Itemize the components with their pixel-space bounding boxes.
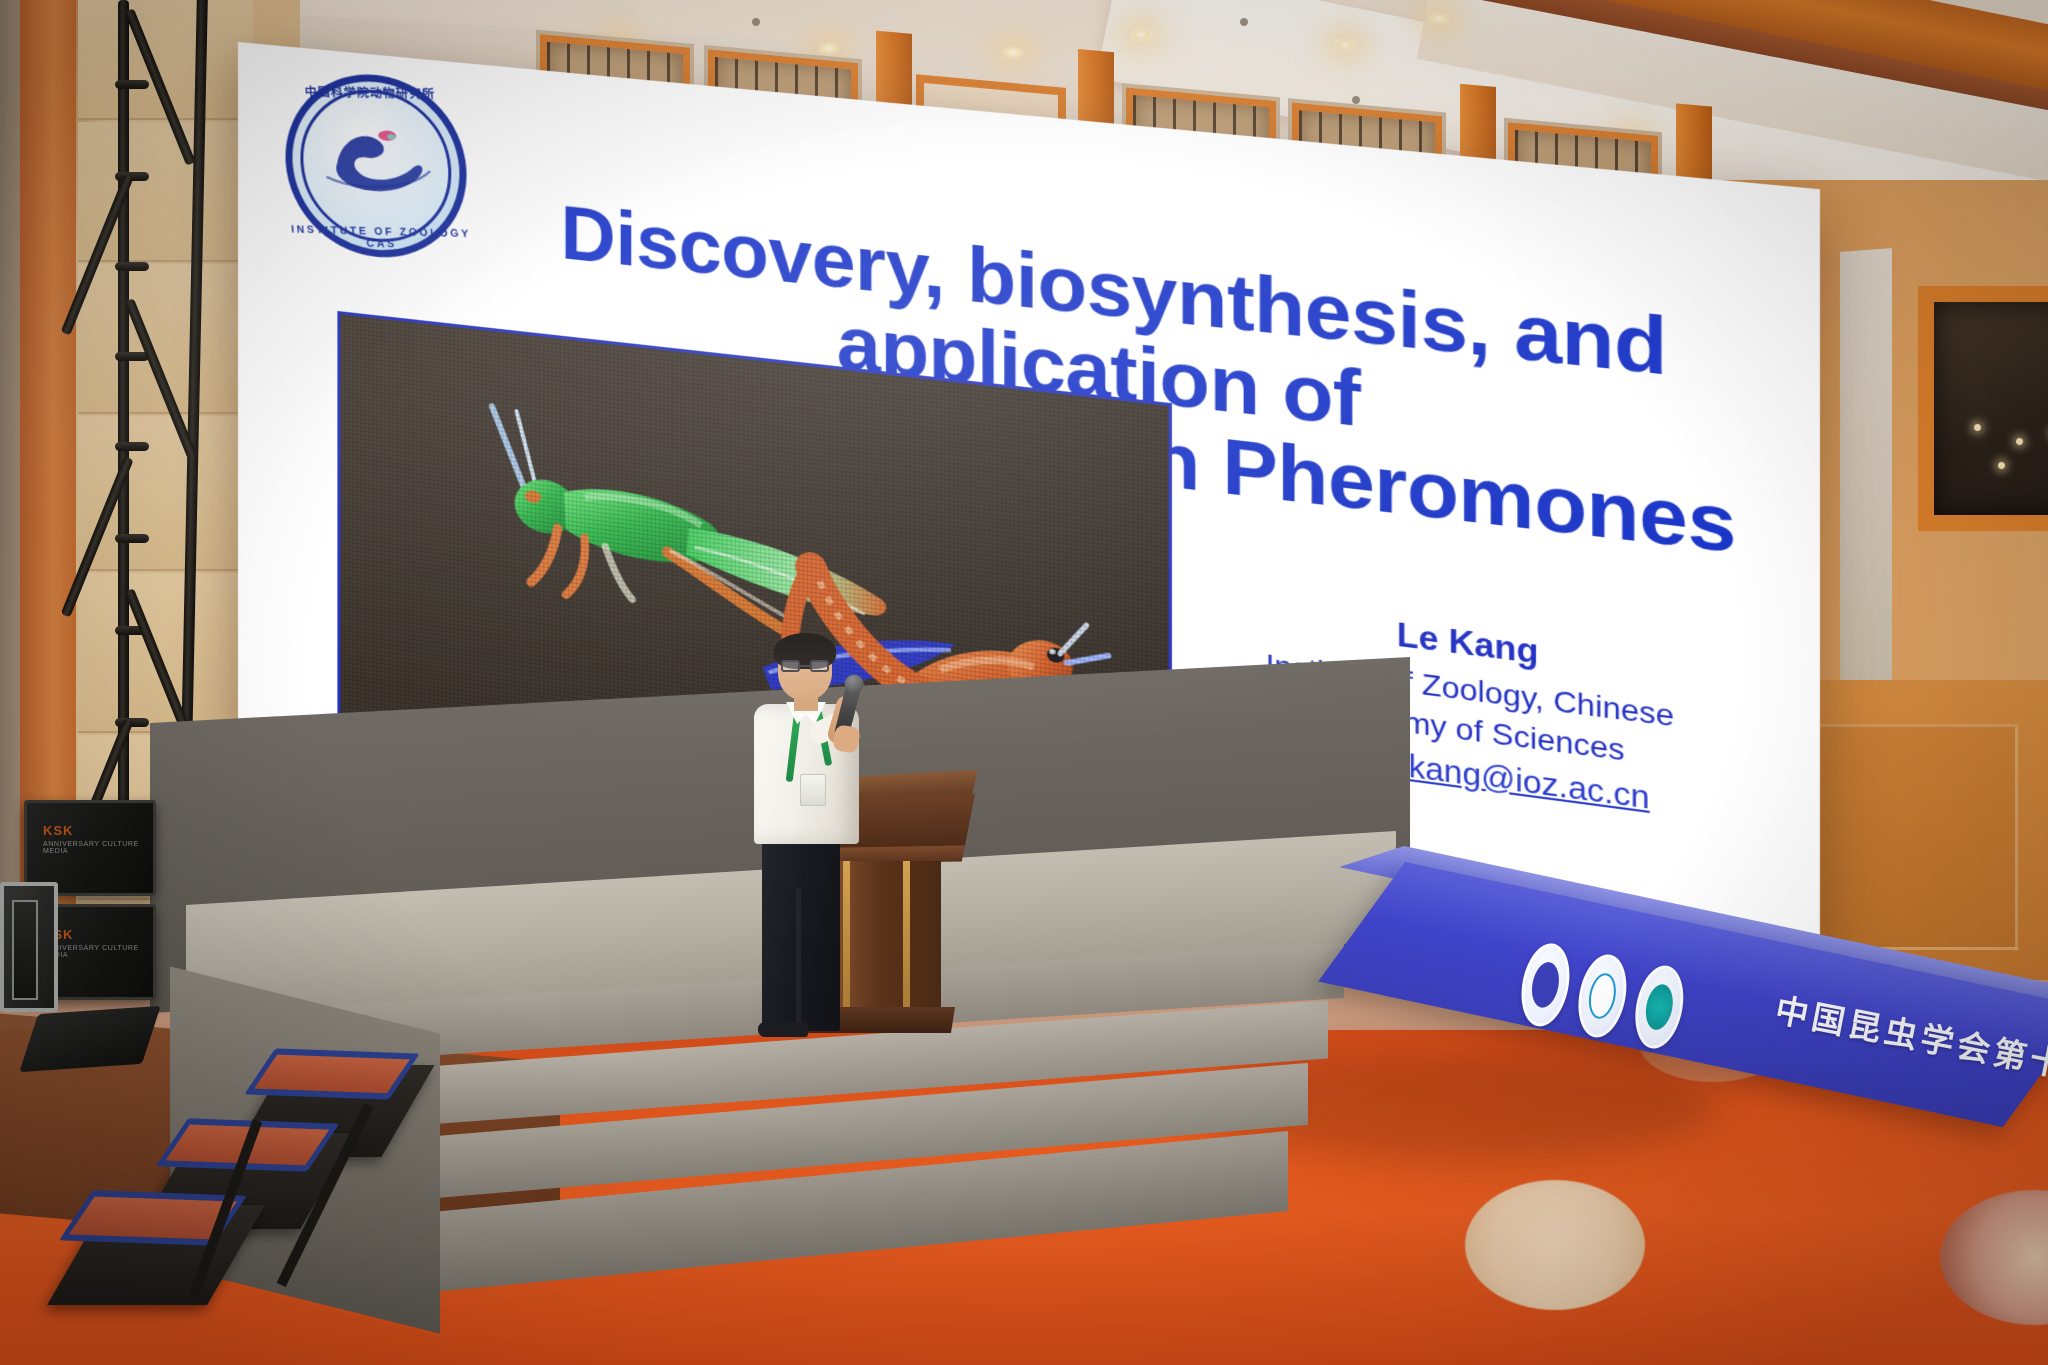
pa-sub-text: ANNIVERSARY CULTURE MEDIA [43,945,153,959]
presenter-leg-split [796,888,801,1028]
truss-diagonal [124,298,197,459]
wall-pilaster [1460,84,1496,417]
glasses-lens-right [810,660,829,672]
truss-rung [115,442,149,451]
stair-tread [244,1048,420,1099]
lattice-grille-panel [1126,87,1276,291]
truss-rung [115,534,149,543]
window-reflection [1974,424,1981,431]
ceiling-downlight [1130,28,1152,41]
microphone-head [843,673,866,695]
lattice-grille-panel [708,49,858,253]
eyeglasses-icon [781,660,829,672]
presenter-shoe [758,1022,808,1037]
runner-logo-icon [1629,961,1690,1052]
window-reflection [2016,438,2023,445]
ceiling-downlight [1334,38,1356,51]
presenter-at-podium [748,638,888,1038]
truss-rung [115,352,149,361]
presenter-trousers [762,836,840,1031]
runner-logo-icon [1572,950,1633,1041]
window-reflection [1998,462,2005,469]
lattice-grille-panel [1292,102,1442,306]
lattice-grille-panel [540,34,690,238]
wall-pilaster [876,31,912,364]
pa-sub-text: ANNIVERSARY CULTURE MEDIA [43,841,153,855]
lighting-truss-right [1835,300,1875,630]
wall-window [1918,286,2048,531]
stage-access-stairs [70,1055,470,1325]
ceiling-downlight [1428,12,1450,25]
flight-case-panel [12,900,38,1000]
truss-rung [115,80,149,89]
glasses-bridge [800,665,810,667]
wall-stone-panel [1618,290,1696,890]
pa-brand-text: KSK [43,823,73,838]
podium-gold-trim [903,861,910,1011]
carpet-medallion [1465,1180,1645,1310]
flight-case [0,882,58,1012]
glasses-lens-left [781,660,800,672]
wall-pilaster [1078,49,1114,382]
left-wall-edge [0,0,22,1000]
presenter-badge [800,774,826,806]
truss-rung [115,262,149,271]
conference-stage-photo: 中国科学院动物研究所 INSTITUTE OF ZOOLOGY CAS Disc… [0,0,2048,1365]
sprinkler-head [1240,18,1248,26]
runner-logo-icon [1515,939,1576,1030]
truss-post [1835,300,1875,630]
wall-door-panel [916,74,1066,288]
carpet-medallion [1940,1190,2048,1325]
wall-inset-panel [1794,724,2018,950]
